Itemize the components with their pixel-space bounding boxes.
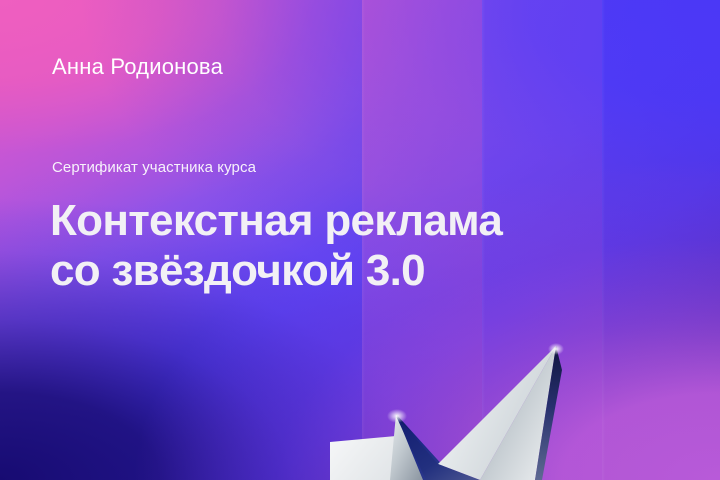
certificate-banner: Анна Родионова Сертификат участника курс… — [0, 0, 720, 480]
certificate-text-block: Анна Родионова Сертификат участника курс… — [52, 0, 672, 480]
course-title: Контекстная реклама со звёздочкой 3.0 — [50, 196, 690, 296]
recipient-name: Анна Родионова — [52, 54, 223, 80]
certificate-subtitle: Сертификат участника курса — [52, 159, 256, 176]
